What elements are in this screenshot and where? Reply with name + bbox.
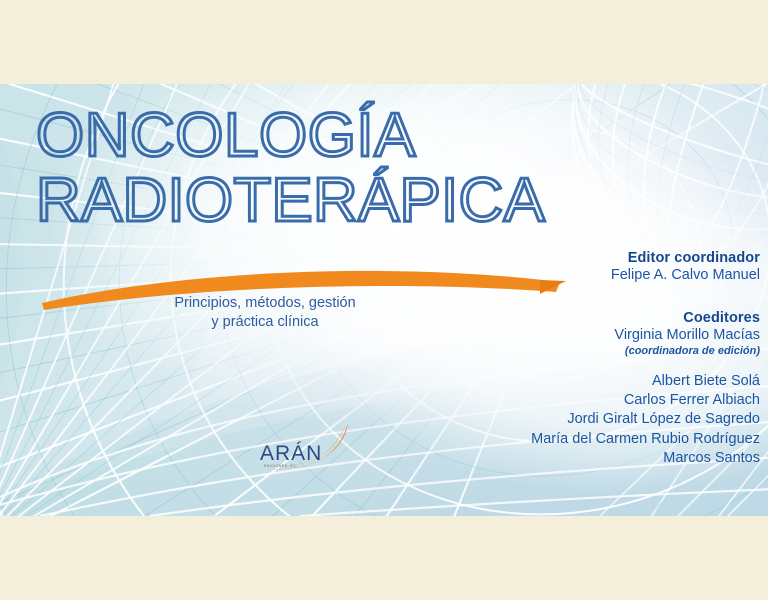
aran-tagline: EDICIONES, S.L. — [264, 464, 298, 468]
publisher-logo: ARÁN EDICIONES, S.L. — [252, 420, 372, 482]
list-item: Jordi Giralt López de Sagredo — [492, 410, 760, 429]
coeditors-heading: Coeditores — [492, 310, 760, 326]
subtitle-line-1: Principios, métodos, gestión — [140, 294, 390, 313]
aran-wordmark: ARÁN — [260, 442, 322, 466]
editor-coordinator-heading: Editor coordinador — [492, 250, 760, 266]
coeditor-list: Albert Biete Solá Carlos Ferrer Albiach … — [492, 372, 760, 468]
list-item: María del Carmen Rubio Rodríguez — [492, 430, 760, 449]
list-item: Carlos Ferrer Albiach — [492, 391, 760, 410]
list-item: Albert Biete Solá — [492, 372, 760, 391]
cover-subtitle: Principios, métodos, gestión y práctica … — [140, 294, 390, 332]
bottom-margin-band — [0, 516, 768, 600]
lead-coeditor-name: Virginia Morillo Macías — [492, 326, 760, 344]
book-cover: ONCOLOGÍA RADIOTERÁPICA Principios, méto… — [0, 84, 768, 516]
top-margin-band — [0, 0, 768, 84]
spacer — [492, 284, 760, 310]
editor-coordinator-name: Felipe A. Calvo Manuel — [492, 266, 760, 284]
book-cover-page: ONCOLOGÍA RADIOTERÁPICA Principios, méto… — [0, 0, 768, 600]
editors-block: Editor coordinador Felipe A. Calvo Manue… — [492, 250, 760, 468]
title-line-1: ONCOLOGÍA — [36, 106, 576, 167]
spacer — [492, 358, 760, 372]
list-item: Marcos Santos — [492, 449, 760, 468]
title-line-2: RADIOTERÁPICA — [36, 171, 576, 232]
subtitle-line-2: y práctica clínica — [140, 313, 390, 332]
cover-title: ONCOLOGÍA RADIOTERÁPICA — [36, 106, 576, 232]
lead-coeditor-note: (coordinadora de edición) — [492, 345, 760, 358]
